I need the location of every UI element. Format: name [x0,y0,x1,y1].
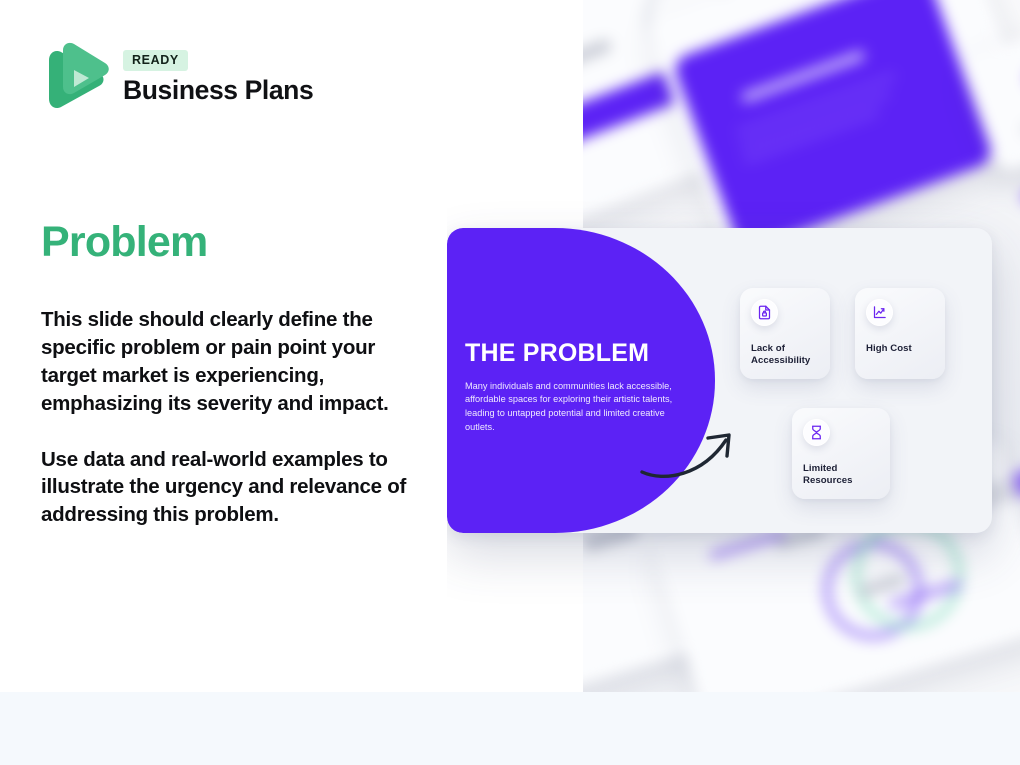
paragraph-2: Use data and real-world examples to illu… [41,446,419,530]
hourglass-icon [803,419,830,446]
tile-lack-of-accessibility[interactable]: Lack of Accessibility [740,288,830,379]
tile-limited-resources[interactable]: Limited Resources [792,408,890,499]
slide-heading: THE PROBLEM [465,340,697,368]
play-triangle-logo-icon [41,40,109,114]
tile-label: High Cost [866,343,934,355]
brand-text: READY Business Plans [123,48,313,106]
bottom-strip [0,692,1020,765]
curved-arrow-up-right-icon [640,418,750,480]
tile-label: Lack of Accessibility [751,343,819,368]
paragraph-1: This slide should clearly define the spe… [41,306,419,418]
left-content-column: READY Business Plans Problem This slide … [0,0,447,765]
body-copy: This slide should clearly define the spe… [41,306,419,529]
brand-lockup: READY Business Plans [41,40,313,114]
document-lock-icon [751,299,778,326]
brand-name: Business Plans [123,75,313,106]
tile-high-cost[interactable]: High Cost [855,288,945,379]
tile-label: Limited Resources [803,463,879,488]
ready-badge: READY [123,50,188,71]
page-title: Problem [41,218,207,267]
line-chart-up-icon [866,299,893,326]
problem-slide-card: THE PROBLEM Many individuals and communi… [447,228,992,533]
